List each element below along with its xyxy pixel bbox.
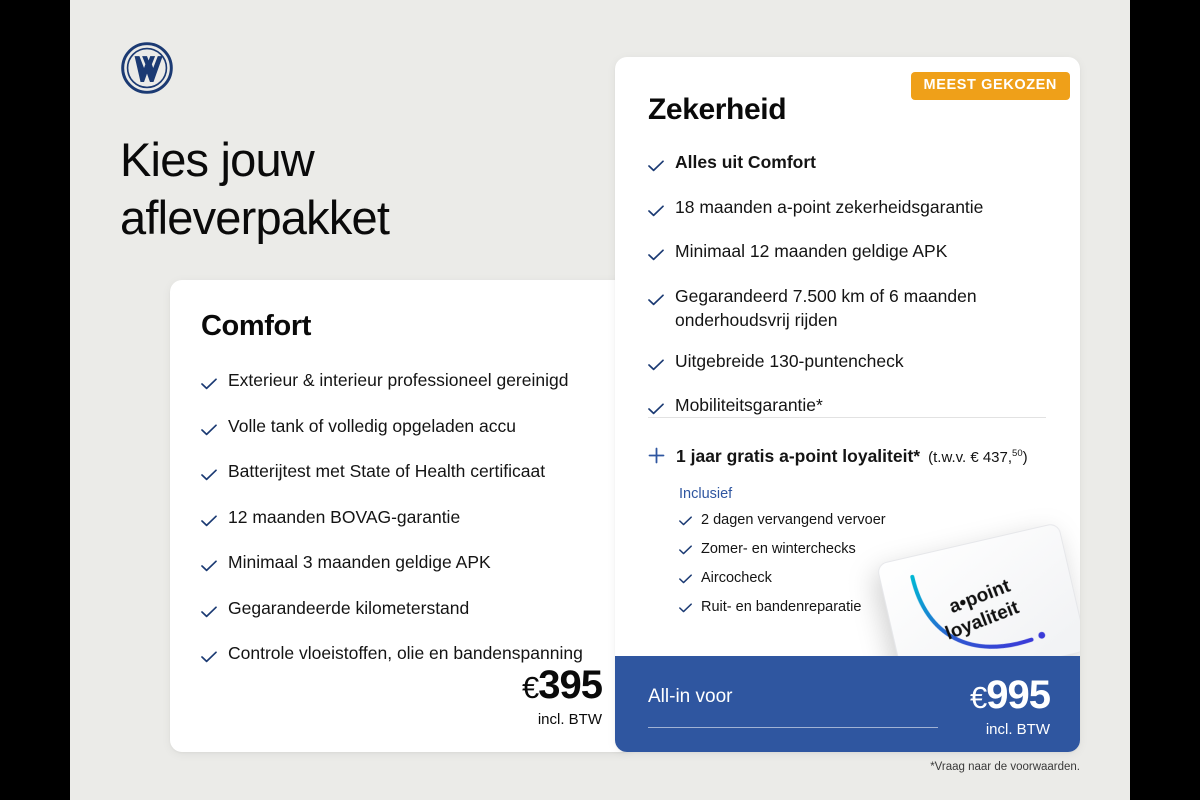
check-icon xyxy=(201,463,217,488)
comfort-price-note: incl. BTW xyxy=(522,711,602,728)
feature-text: Alles uit Comfort xyxy=(675,150,816,175)
headline-line-1: Kies jouw xyxy=(120,131,550,189)
check-icon xyxy=(648,154,664,179)
list-item: 18 maanden a-point zekerheidsgarantie xyxy=(648,195,1048,224)
list-item: Minimaal 12 maanden geldige APK xyxy=(648,239,1048,268)
feature-text: Volle tank of volledig opgeladen accu xyxy=(228,414,516,439)
zekerheid-price-footer: All-in voor €995 incl. BTW xyxy=(615,656,1080,752)
inclusief-label: Inclusief xyxy=(679,486,1058,502)
inclusief-item-text: Zomer- en winterchecks xyxy=(701,540,856,559)
currency-symbol: € xyxy=(522,670,538,705)
feature-text: Mobiliteitsgarantie* xyxy=(675,393,823,418)
comfort-title: Comfort xyxy=(201,310,311,343)
zekerheid-price: €995 xyxy=(970,673,1050,720)
intro-column: Kies jouw afleverpakket Comfort Exterieu… xyxy=(120,0,590,800)
list-item: Uitgebreide 130-puntencheck xyxy=(648,349,1048,378)
list-item: Exterieur & interieur professioneel gere… xyxy=(201,368,601,397)
check-icon xyxy=(648,288,664,313)
zekerheid-price-block: €995 incl. BTW xyxy=(970,673,1050,738)
check-icon xyxy=(201,509,217,534)
footer-rule xyxy=(648,727,938,728)
plus-icon xyxy=(648,447,665,469)
headline-line-2: afleverpakket xyxy=(120,189,550,247)
list-item: Gegarandeerd 7.500 km of 6 maanden onder… xyxy=(648,284,1048,333)
feature-text: Gegarandeerde kilometerstand xyxy=(228,596,469,621)
currency-symbol: € xyxy=(970,680,986,715)
feature-text: Uitgebreide 130-puntencheck xyxy=(675,349,904,374)
zekerheid-price-note: incl. BTW xyxy=(970,721,1050,738)
feature-text: Minimaal 12 maanden geldige APK xyxy=(675,239,947,264)
check-icon xyxy=(679,542,692,561)
check-icon xyxy=(201,600,217,625)
check-icon xyxy=(679,513,692,532)
comfort-feature-list: Exterieur & interieur professioneel gere… xyxy=(201,368,601,687)
page-title: Kies jouw afleverpakket xyxy=(120,131,550,247)
inclusief-item-text: Aircocheck xyxy=(701,569,772,588)
loyalty-heading: 1 jaar gratis a-point loyaliteit* (t.w.v… xyxy=(648,445,1058,467)
check-icon xyxy=(201,645,217,670)
status-badge: MEEST GEKOZEN xyxy=(911,72,1070,100)
feature-text: Exterieur & interieur professioneel gere… xyxy=(228,368,568,393)
check-icon xyxy=(648,199,664,224)
volkswagen-logo-icon xyxy=(120,41,174,95)
loyalty-title: 1 jaar gratis a-point loyaliteit* xyxy=(676,446,920,467)
inclusief-item-text: Ruit- en bandenreparatie xyxy=(701,598,861,617)
page-content: Kies jouw afleverpakket Comfort Exterieu… xyxy=(70,0,1130,800)
feature-text: Gegarandeerd 7.500 km of 6 maanden onder… xyxy=(675,284,1048,333)
inclusief-item-text: 2 dagen vervangend vervoer xyxy=(701,511,886,530)
list-item: Minimaal 3 maanden geldige APK xyxy=(201,550,601,579)
zekerheid-feature-list: Alles uit Comfort 18 maanden a-point zek… xyxy=(648,150,1048,438)
zekerheid-footer-label: All-in voor xyxy=(648,686,732,708)
check-icon xyxy=(648,353,664,378)
check-icon xyxy=(201,372,217,397)
check-icon xyxy=(201,418,217,443)
screenshot-frame: Kies jouw afleverpakket Comfort Exterieu… xyxy=(0,0,1200,800)
list-item: 2 dagen vervangend vervoer xyxy=(679,511,1058,532)
check-icon xyxy=(648,243,664,268)
loyalty-value-suffix: ) xyxy=(1023,449,1028,466)
price-amount: 395 xyxy=(538,663,602,707)
list-item: 12 maanden BOVAG-garantie xyxy=(201,505,601,534)
package-card-comfort[interactable]: Comfort Exterieur & interieur profession… xyxy=(170,280,632,752)
comfort-price: €395 xyxy=(522,663,602,710)
list-item: Volle tank of volledig opgeladen accu xyxy=(201,414,601,443)
feature-text: Controle vloeistoffen, olie en bandenspa… xyxy=(228,641,583,666)
feature-text: 18 maanden a-point zekerheidsgarantie xyxy=(675,195,983,220)
check-icon xyxy=(201,554,217,579)
package-card-zekerheid[interactable]: MEEST GEKOZEN Zekerheid Alles uit Comfor… xyxy=(615,57,1080,752)
comfort-price-block: €395 incl. BTW xyxy=(522,663,602,728)
list-item: Alles uit Comfort xyxy=(648,150,1048,179)
feature-text: Minimaal 3 maanden geldige APK xyxy=(228,550,491,575)
loyalty-value-cents: 50 xyxy=(1012,448,1023,459)
footnote: *Vraag naar de voorwaarden. xyxy=(930,761,1080,773)
feature-text: Batterijtest met State of Health certifi… xyxy=(228,459,545,484)
zekerheid-title: Zekerheid xyxy=(648,93,786,127)
check-icon xyxy=(679,571,692,590)
section-divider xyxy=(648,417,1046,418)
loyalty-value-prefix: (t.w.v. € 437, xyxy=(928,449,1012,466)
list-item: Batterijtest met State of Health certifi… xyxy=(201,459,601,488)
list-item: Gegarandeerde kilometerstand xyxy=(201,596,601,625)
loyalty-value: (t.w.v. € 437,50) xyxy=(928,448,1028,466)
price-amount: 995 xyxy=(986,673,1050,717)
feature-text: 12 maanden BOVAG-garantie xyxy=(228,505,460,530)
check-icon xyxy=(679,600,692,619)
